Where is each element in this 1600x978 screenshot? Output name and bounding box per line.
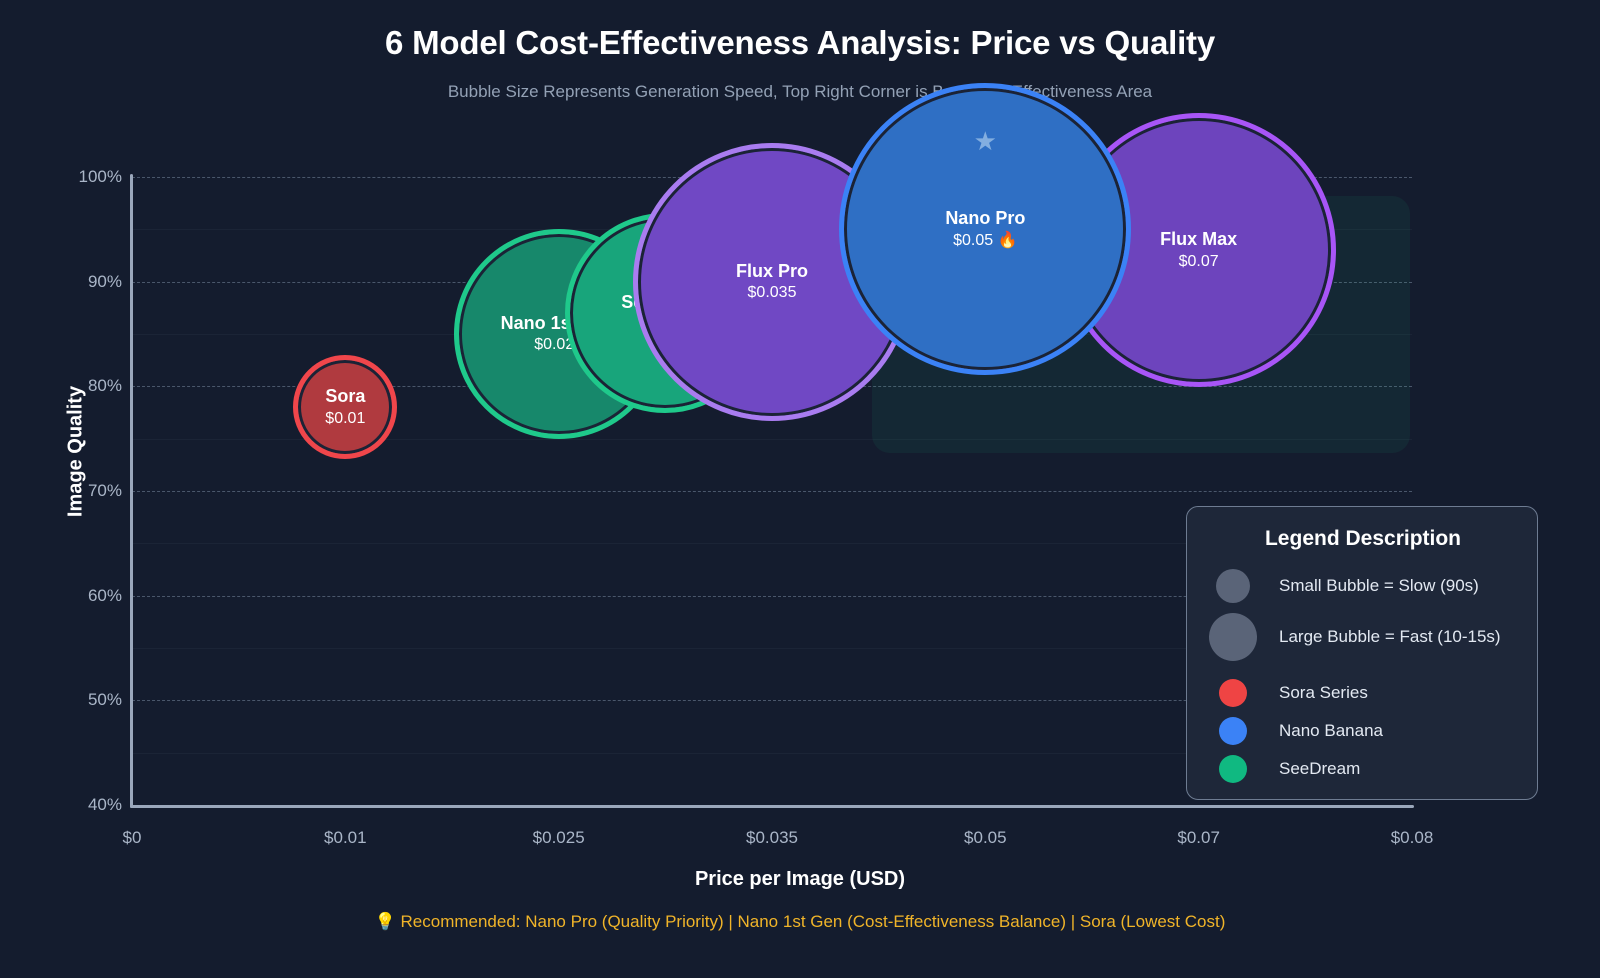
recommendation-text: Recommended: Nano Pro (Quality Priority)… — [401, 912, 1226, 931]
legend-item-label: SeeDream — [1279, 759, 1360, 779]
legend-bubble-swatch — [1216, 569, 1250, 603]
chart-canvas: 6 Model Cost-Effectiveness Analysis: Pri… — [0, 0, 1600, 978]
bubble-label: Nano Pro — [945, 207, 1025, 230]
x-tick-label: $0 — [123, 828, 142, 848]
x-tick-label: $0.07 — [1177, 828, 1220, 848]
star-icon: ★ — [974, 126, 997, 157]
bubble-label: Sora — [325, 385, 365, 408]
recommendation-note: 💡 Recommended: Nano Pro (Quality Priorit… — [0, 912, 1600, 932]
legend-panel[interactable]: Legend Description Small Bubble = Slow (… — [1186, 506, 1538, 800]
bubble-price: $0.035 — [748, 282, 797, 304]
legend-series-item[interactable]: SeeDream — [1209, 755, 1360, 783]
y-tick-label: 40% — [12, 795, 122, 815]
lightbulb-icon: 💡 — [375, 912, 396, 931]
x-axis-title: Price per Image (USD) — [0, 868, 1600, 891]
legend-series-item[interactable]: Nano Banana — [1209, 717, 1383, 745]
legend-size-item[interactable]: Small Bubble = Slow (90s) — [1209, 569, 1479, 603]
legend-color-swatch — [1219, 717, 1247, 745]
legend-bubble-swatch — [1209, 613, 1257, 661]
gridline-y — [132, 491, 1412, 492]
y-tick-label: 60% — [12, 586, 122, 606]
bubble-price: $0.05 🔥 — [953, 230, 1017, 252]
bubble-label: Flux Max — [1160, 228, 1237, 251]
legend-series-item[interactable]: Sora Series — [1209, 679, 1368, 707]
page-title: 6 Model Cost-Effectiveness Analysis: Pri… — [0, 24, 1600, 62]
legend-item-label: Large Bubble = Fast (10-15s) — [1279, 627, 1501, 647]
legend-color-swatch — [1219, 679, 1247, 707]
x-tick-label: $0.01 — [324, 828, 367, 848]
bubble-nano-pro[interactable]: ★Nano Pro$0.05 🔥 — [839, 83, 1131, 375]
x-tick-label: $0.025 — [533, 828, 585, 848]
legend-color-swatch — [1219, 755, 1247, 783]
y-axis-title: Image Quality — [65, 352, 88, 552]
x-tick-label: $0.08 — [1391, 828, 1434, 848]
bubble-price: $0.07 — [1179, 251, 1219, 273]
y-tick-label: 90% — [12, 272, 122, 292]
legend-item-label: Sora Series — [1279, 683, 1368, 703]
x-axis-line — [130, 805, 1414, 808]
y-axis-line — [130, 174, 133, 808]
y-tick-label: 50% — [12, 690, 122, 710]
x-tick-label: $0.035 — [746, 828, 798, 848]
chart-subtitle: Bubble Size Represents Generation Speed,… — [0, 82, 1600, 102]
legend-size-item[interactable]: Large Bubble = Fast (10-15s) — [1209, 613, 1501, 661]
legend-item-label: Small Bubble = Slow (90s) — [1279, 576, 1479, 596]
bubble-price: $0.01 — [325, 408, 365, 430]
legend-item-label: Nano Banana — [1279, 721, 1383, 741]
bubble-label: Flux Pro — [736, 260, 808, 283]
bubble-sora[interactable]: Sora$0.01 — [293, 355, 397, 459]
x-tick-label: $0.05 — [964, 828, 1007, 848]
legend-title: Legend Description — [1187, 527, 1539, 551]
y-tick-label: 100% — [12, 167, 122, 187]
